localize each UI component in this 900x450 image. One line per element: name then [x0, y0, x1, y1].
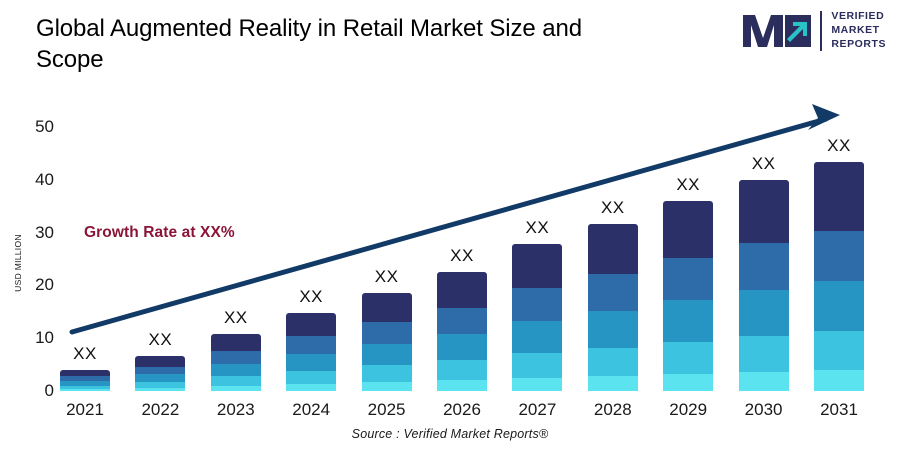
bar-segment-segment-5	[211, 386, 261, 391]
x-axis-tick-label: 2026	[437, 400, 487, 420]
bar-segment-segment-1	[362, 293, 412, 322]
bar-value-label: XX	[211, 308, 261, 328]
bar-value-label: XX	[739, 154, 789, 174]
bar-segment-segment-2	[588, 274, 638, 311]
bar-value-label: XX	[286, 287, 336, 307]
bar-segment-segment-2	[739, 243, 789, 289]
stacked-bar[interactable]	[286, 313, 336, 391]
bar-group[interactable]: XX2021	[60, 0, 110, 450]
bar-segment-segment-2	[286, 336, 336, 353]
bar-value-label: XX	[437, 246, 487, 266]
x-axis-tick-label: 2029	[663, 400, 713, 420]
bar-segment-segment-4	[663, 342, 713, 374]
bar-segment-segment-3	[814, 281, 864, 331]
stacked-bar[interactable]	[135, 356, 185, 391]
bar-series-container: XX2021XX2022XX2023XX2024XX2025XX2026XX20…	[0, 0, 900, 450]
source-note: Source : Verified Market Reports®	[0, 427, 900, 441]
bar-segment-segment-5	[739, 372, 789, 391]
bar-group[interactable]: XX2022	[135, 0, 185, 450]
bar-segment-segment-1	[135, 356, 185, 366]
bar-segment-segment-1	[211, 334, 261, 351]
bar-segment-segment-5	[362, 382, 412, 391]
bar-group[interactable]: XX2023	[211, 0, 261, 450]
bar-group[interactable]: XX2026	[437, 0, 487, 450]
bar-group[interactable]: XX2027	[512, 0, 562, 450]
bar-segment-segment-1	[663, 201, 713, 258]
stacked-bar[interactable]	[739, 180, 789, 391]
bar-segment-segment-4	[211, 376, 261, 386]
bar-value-label: XX	[588, 198, 638, 218]
bar-segment-segment-2	[362, 322, 412, 344]
bar-segment-segment-1	[437, 272, 487, 308]
bar-segment-segment-1	[588, 224, 638, 274]
bar-group[interactable]: XX2030	[739, 0, 789, 450]
bar-segment-segment-5	[814, 370, 864, 391]
bar-segment-segment-3	[135, 374, 185, 382]
stacked-bar[interactable]	[814, 162, 864, 391]
bar-segment-segment-5	[437, 380, 487, 391]
bar-segment-segment-5	[512, 378, 562, 391]
bar-segment-segment-5	[588, 376, 638, 391]
bar-segment-segment-1	[814, 162, 864, 231]
bar-segment-segment-4	[739, 336, 789, 372]
bar-segment-segment-2	[814, 231, 864, 281]
x-axis-tick-label: 2027	[512, 400, 562, 420]
stacked-bar[interactable]	[588, 224, 638, 391]
bar-segment-segment-3	[437, 334, 487, 360]
x-axis-tick-label: 2028	[588, 400, 638, 420]
bar-segment-segment-2	[437, 308, 487, 334]
bar-segment-segment-4	[286, 371, 336, 384]
x-axis-tick-label: 2023	[211, 400, 261, 420]
stacked-bar[interactable]	[211, 334, 261, 391]
bar-segment-segment-3	[286, 354, 336, 371]
bar-segment-segment-1	[512, 244, 562, 288]
bar-segment-segment-4	[588, 348, 638, 376]
x-axis-tick-label: 2030	[739, 400, 789, 420]
bar-value-label: XX	[362, 267, 412, 287]
bar-value-label: XX	[135, 330, 185, 350]
bar-segment-segment-5	[286, 384, 336, 391]
bar-value-label: XX	[512, 218, 562, 238]
bar-segment-segment-1	[739, 180, 789, 243]
stacked-bar[interactable]	[512, 244, 562, 391]
bar-segment-segment-2	[211, 351, 261, 364]
bar-group[interactable]: XX2024	[286, 0, 336, 450]
bar-segment-segment-4	[362, 365, 412, 382]
bar-value-label: XX	[663, 175, 713, 195]
stacked-bar[interactable]	[437, 272, 487, 391]
bar-segment-segment-2	[512, 288, 562, 320]
bar-segment-segment-3	[588, 311, 638, 348]
x-axis-tick-label: 2031	[814, 400, 864, 420]
bar-segment-segment-2	[135, 367, 185, 375]
x-axis-tick-label: 2025	[362, 400, 412, 420]
x-axis-tick-label: 2022	[135, 400, 185, 420]
stacked-bar[interactable]	[663, 201, 713, 391]
x-axis-tick-label: 2021	[60, 400, 110, 420]
bar-segment-segment-4	[814, 331, 864, 370]
stacked-bar[interactable]	[362, 293, 412, 391]
stacked-bar[interactable]	[60, 370, 110, 391]
bar-segment-segment-5	[60, 389, 110, 391]
bar-group[interactable]: XX2029	[663, 0, 713, 450]
bar-segment-segment-1	[286, 313, 336, 336]
bar-segment-segment-3	[663, 300, 713, 342]
bar-segment-segment-3	[362, 344, 412, 366]
bar-value-label: XX	[60, 344, 110, 364]
x-axis-tick-label: 2024	[286, 400, 336, 420]
bar-segment-segment-4	[437, 360, 487, 380]
bar-segment-segment-4	[512, 353, 562, 378]
bar-group[interactable]: XX2028	[588, 0, 638, 450]
bar-segment-segment-5	[135, 388, 185, 391]
bar-segment-segment-3	[211, 364, 261, 377]
bar-segment-segment-2	[663, 258, 713, 300]
chart-plot-area: USD MILLION 01020304050 Growth Rate at X…	[0, 0, 900, 450]
bar-value-label: XX	[814, 136, 864, 156]
chart-page: Global Augmented Reality in Retail Marke…	[0, 0, 900, 450]
bar-segment-segment-3	[739, 290, 789, 336]
bar-segment-segment-5	[663, 374, 713, 391]
bar-segment-segment-3	[512, 321, 562, 353]
bar-group[interactable]: XX2025	[362, 0, 412, 450]
bar-group[interactable]: XX2031	[814, 0, 864, 450]
